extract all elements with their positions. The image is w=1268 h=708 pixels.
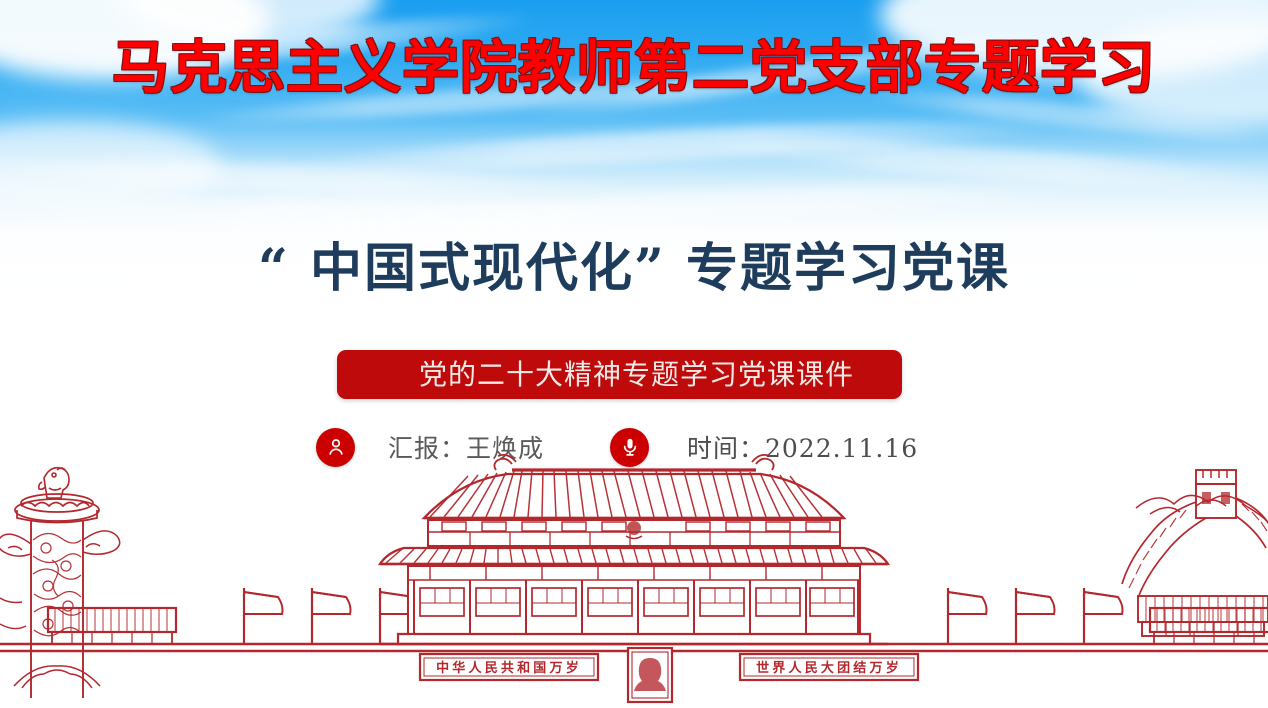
datetime-info: 时间：2022.11.16 [610, 420, 918, 474]
meta-row: 汇报：王焕成 时间：2022.11.16 [0, 420, 1268, 474]
datetime-label: 时间：2022.11.16 [687, 429, 918, 465]
presenter-label: 汇报：王焕成 [388, 429, 544, 465]
reviewing-stand-left [48, 608, 176, 644]
presenter-info: 汇报：王焕成 [316, 420, 544, 474]
flag-poles-right [948, 588, 1123, 644]
person-icon [316, 428, 355, 467]
page-title: 马克思主义学院教师第二党支部专题学习 [0, 36, 1268, 102]
left-placard-text: 中华人民共和国万岁 [436, 660, 582, 676]
headline: “ 中国式现代化” 专题学习党课 [0, 238, 1268, 300]
flag-poles-left [244, 588, 487, 644]
bottom-illustration: 中华人民共和国万岁 世界人民大团结万岁 [0, 448, 1268, 708]
tiananmen-gate [380, 455, 888, 644]
gate-placards: 中华人民共和国万岁 世界人民大团结万岁 [420, 648, 918, 702]
great-wall [1122, 470, 1268, 636]
subtitle-text: 党的二十大精神专题学习党课课件 [337, 350, 922, 399]
right-placard-text: 世界人民大团结万岁 [756, 660, 902, 676]
microphone-icon [610, 428, 649, 467]
huabiao-column [0, 468, 120, 698]
presentation-slide: 马克思主义学院教师第二党支部专题学习 “ 中国式现代化” 专题学习党课 党的二十… [0, 0, 1268, 708]
portrait-icon [634, 658, 666, 691]
national-emblem [626, 521, 642, 539]
reviewing-stand-right [1150, 608, 1268, 644]
